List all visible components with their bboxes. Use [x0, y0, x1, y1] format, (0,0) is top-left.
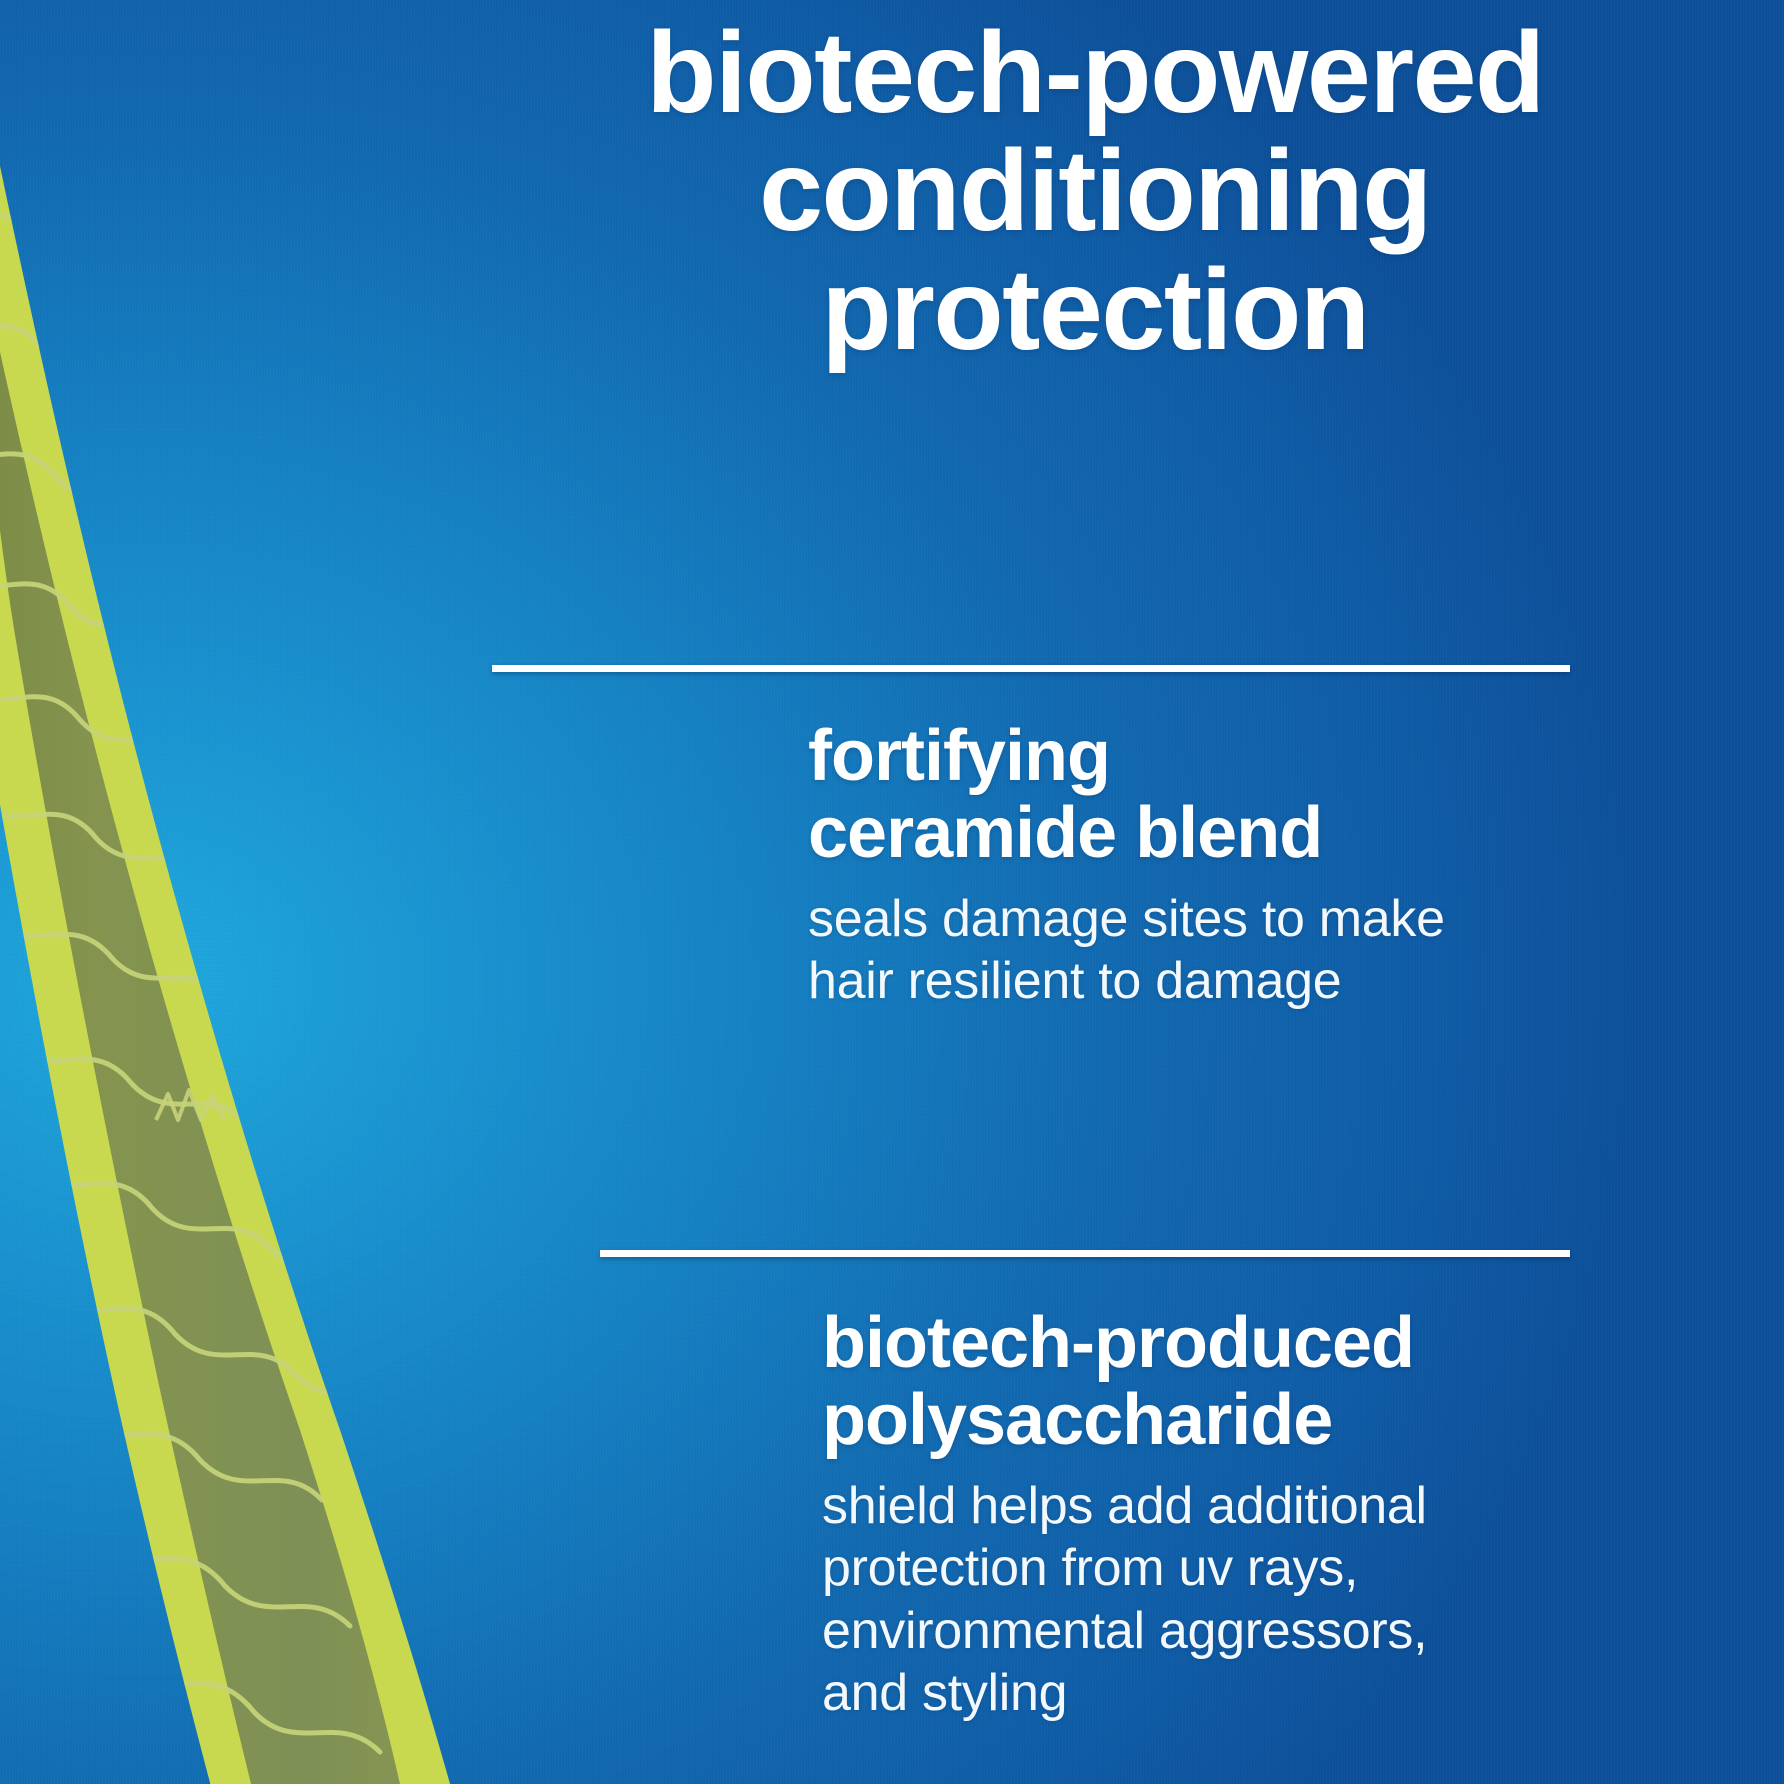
- feature-title-polysaccharide-line-1: biotech-produced: [822, 1305, 1642, 1382]
- feature-title-ceramide-line-2: ceramide blend: [808, 795, 1628, 872]
- feature-block-ceramide: fortifying ceramide blend seals damage s…: [808, 718, 1628, 1013]
- feature-body-ceramide-line-2: hair resilient to damage: [808, 950, 1628, 1012]
- section-divider-1: [492, 665, 1570, 672]
- infographic-canvas: biotech-powered conditioning protection …: [0, 0, 1784, 1784]
- section-divider-2: [600, 1250, 1570, 1257]
- feature-body-polysaccharide-line-4: and styling: [822, 1662, 1642, 1724]
- page-title-line-3: protection: [430, 251, 1760, 369]
- feature-body-polysaccharide-line-3: environmental aggressors,: [822, 1600, 1642, 1662]
- feature-title-ceramide-line-1: fortifying: [808, 718, 1628, 795]
- feature-body-polysaccharide-line-2: protection from uv rays,: [822, 1537, 1642, 1599]
- page-title: biotech-powered conditioning protection: [430, 14, 1760, 369]
- feature-body-ceramide-line-1: seals damage sites to make: [808, 888, 1628, 950]
- page-title-line-1: biotech-powered: [430, 14, 1760, 132]
- feature-body-ceramide: seals damage sites to make hair resilien…: [808, 888, 1628, 1013]
- page-title-line-2: conditioning: [430, 132, 1760, 250]
- feature-title-polysaccharide-line-2: polysaccharide: [822, 1382, 1642, 1459]
- feature-body-polysaccharide-line-1: shield helps add additional: [822, 1475, 1642, 1537]
- feature-title-polysaccharide: biotech-produced polysaccharide: [822, 1305, 1642, 1459]
- feature-title-ceramide: fortifying ceramide blend: [808, 718, 1628, 872]
- feature-body-polysaccharide: shield helps add additional protection f…: [822, 1475, 1642, 1725]
- feature-block-polysaccharide: biotech-produced polysaccharide shield h…: [822, 1305, 1642, 1725]
